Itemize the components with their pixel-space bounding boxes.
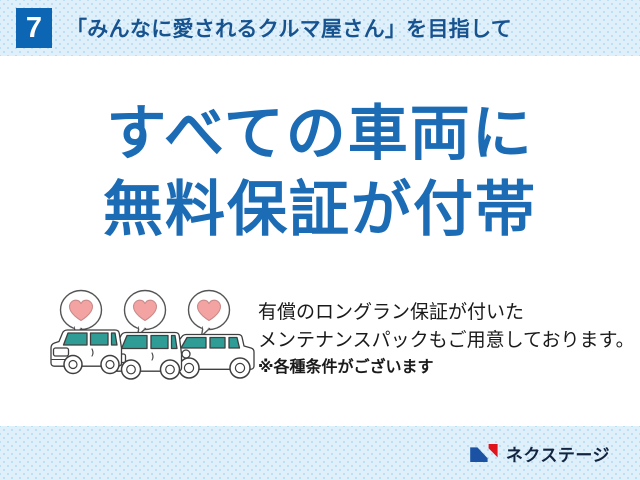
car-kei-wagon bbox=[51, 330, 122, 374]
headline: すべての車両に 無料保証が付帯 bbox=[0, 96, 640, 248]
section-number-badge: 7 bbox=[16, 8, 52, 48]
promo-banner: 7 「みんなに愛されるクルマ屋さん」を目指して すべての車両に 無料保証が付帯 bbox=[0, 0, 640, 480]
lower-section: 有償のロングラン保証が付いた メンテナンスパックもご用意しております。 ※各種条… bbox=[0, 288, 640, 408]
heart-bubble-3 bbox=[189, 291, 230, 337]
header: 7 「みんなに愛されるクルマ屋さん」を目指して bbox=[0, 0, 640, 56]
cars-illustration-svg bbox=[48, 288, 258, 392]
body-line-2: メンテナンスパックもご用意しております。 bbox=[258, 326, 638, 354]
body-line-1: 有償のロングラン保証が付いた bbox=[258, 298, 638, 326]
nexstage-n-mark-icon bbox=[469, 441, 499, 465]
brand-logo: ネクステージ bbox=[469, 440, 610, 466]
cars-illustration bbox=[48, 288, 258, 392]
body-note: ※各種条件がございます bbox=[258, 354, 638, 380]
body-text: 有償のロングラン保証が付いた メンテナンスパックもご用意しております。 ※各種条… bbox=[258, 298, 638, 380]
heart-bubble-1 bbox=[61, 291, 102, 337]
brand-logo-text: ネクステージ bbox=[506, 441, 610, 466]
header-title: 「みんなに愛されるクルマ屋さん」を目指して bbox=[66, 13, 512, 43]
headline-line-2: 無料保証が付帯 bbox=[0, 172, 640, 248]
headline-line-1: すべての車両に bbox=[0, 96, 640, 172]
heart-bubble-2 bbox=[125, 291, 166, 337]
